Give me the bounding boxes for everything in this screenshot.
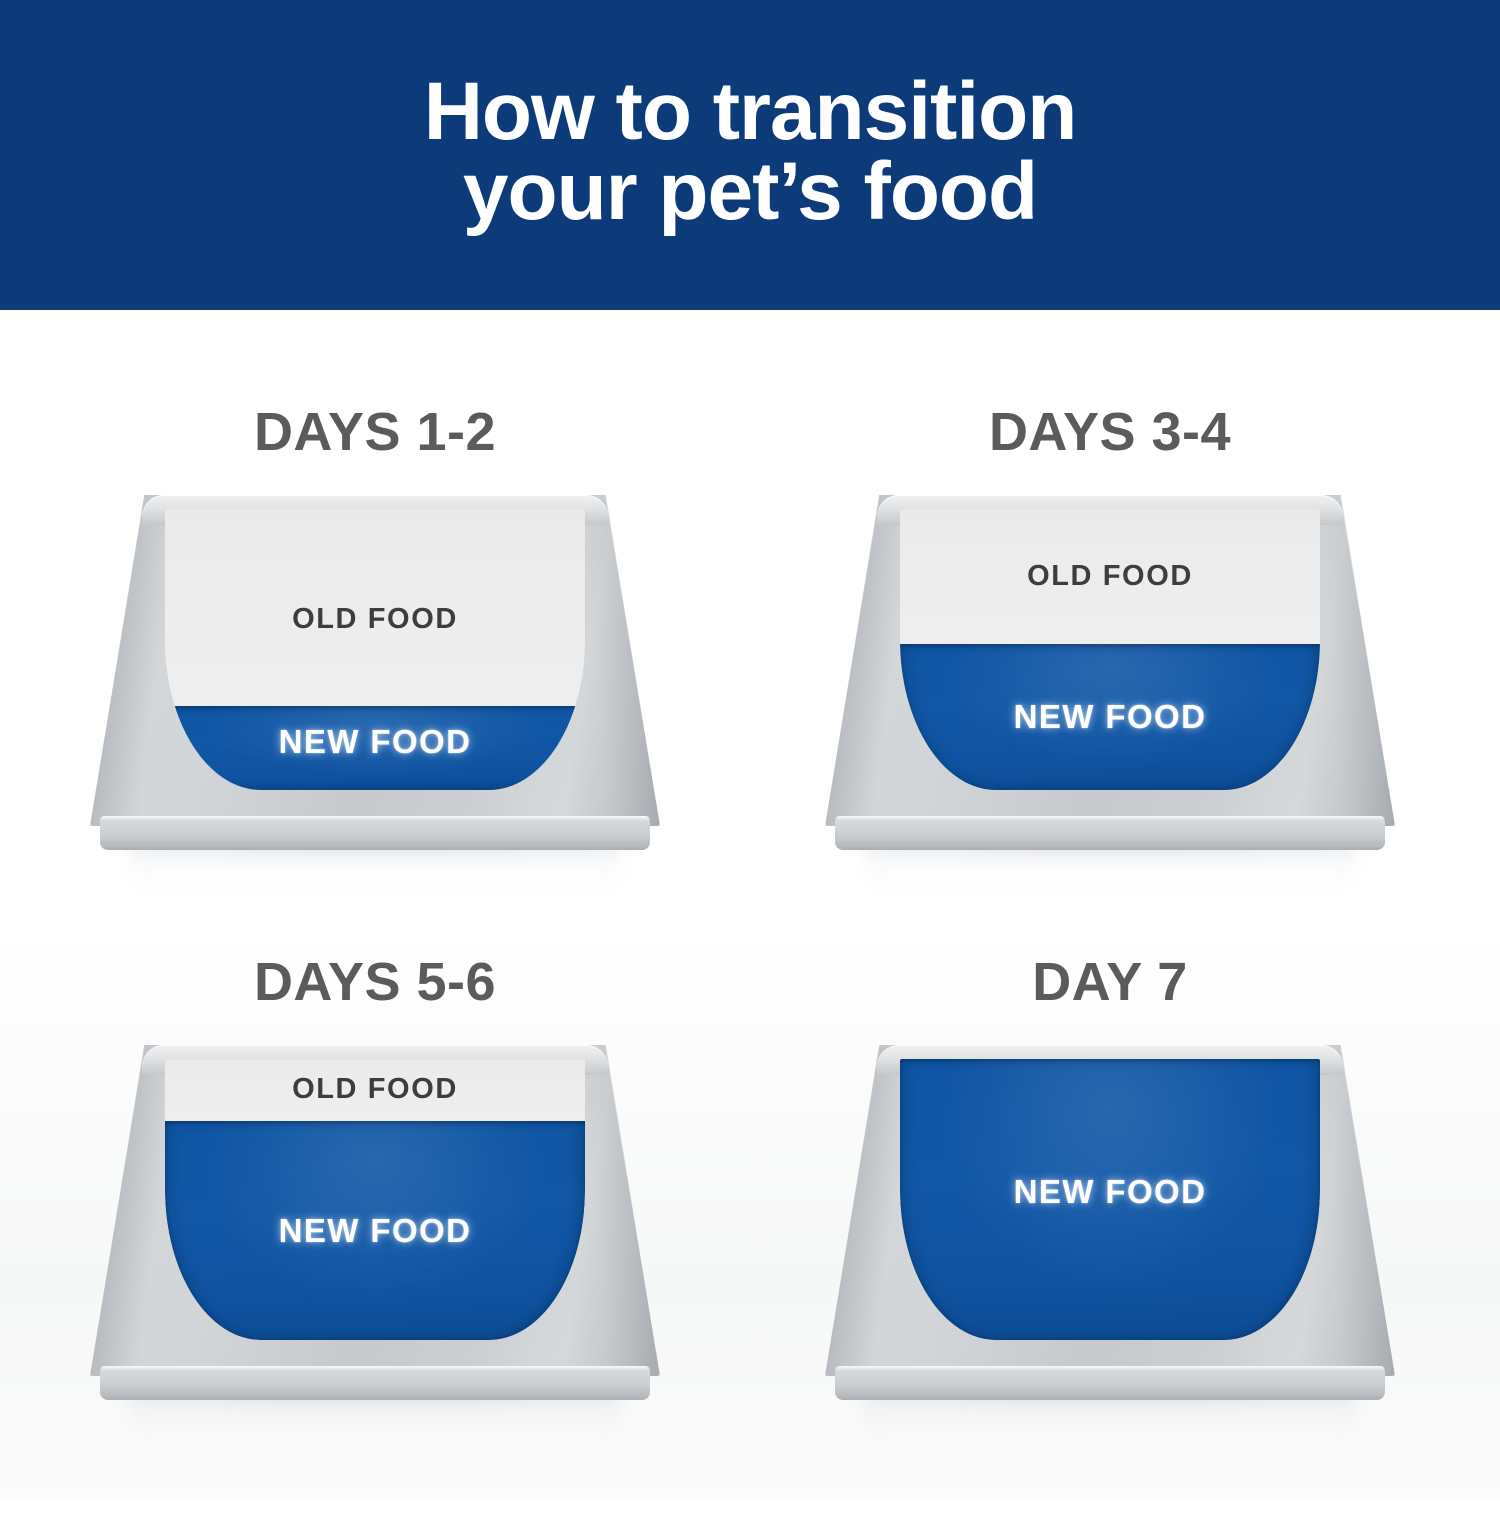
stage-card-days-3-4: DAYS 3-4 OLD FOOD NEW FOOD	[770, 405, 1450, 965]
stage-label-days-3-4: DAYS 3-4	[770, 405, 1450, 459]
bowl-base	[100, 816, 650, 850]
old-food-label: OLD FOOD	[165, 1075, 585, 1104]
bowl-food-well: OLD FOOD NEW FOOD	[165, 1059, 585, 1340]
food-bowl-days-3-4: OLD FOOD NEW FOOD	[825, 495, 1395, 850]
bowl-body-wrap: OLD FOOD NEW FOOD	[90, 495, 660, 826]
food-bowl-day-7: NEW FOOD	[825, 1045, 1395, 1400]
bowl-base	[835, 816, 1385, 850]
stage-card-day-7: DAY 7 NEW FOOD	[770, 955, 1450, 1515]
header-banner: How to transition your pet’s food	[0, 0, 1500, 310]
stage-label-day-7: DAY 7	[770, 955, 1450, 1009]
new-food-fill: NEW FOOD	[900, 1059, 1320, 1340]
stage-label-days-1-2: DAYS 1-2	[35, 405, 715, 459]
new-food-label: NEW FOOD	[165, 725, 585, 758]
bowl-base	[100, 1366, 650, 1400]
new-food-fill: NEW FOOD	[165, 1121, 585, 1340]
bowl-food-well: OLD FOOD NEW FOOD	[900, 509, 1320, 790]
food-bowl-days-1-2: OLD FOOD NEW FOOD	[90, 495, 660, 850]
new-food-fill: NEW FOOD	[900, 644, 1320, 790]
new-food-label: NEW FOOD	[900, 700, 1320, 733]
old-food-label: OLD FOOD	[165, 605, 585, 634]
old-food-fill: OLD FOOD	[165, 1059, 585, 1121]
new-food-label: NEW FOOD	[165, 1214, 585, 1247]
stage-label-days-5-6: DAYS 5-6	[35, 955, 715, 1009]
bowl-base	[835, 1366, 1385, 1400]
page-title: How to transition your pet’s food	[424, 72, 1077, 239]
bowl-food-well: NEW FOOD	[900, 1059, 1320, 1340]
bowl-food-well: OLD FOOD NEW FOOD	[165, 509, 585, 790]
bowl-body-wrap: OLD FOOD NEW FOOD	[90, 1045, 660, 1376]
old-food-fill: OLD FOOD	[900, 509, 1320, 644]
new-food-fill: NEW FOOD	[165, 706, 585, 790]
stage-card-days-1-2: DAYS 1-2 OLD FOOD NEW FOOD	[35, 405, 715, 965]
bowl-body-wrap: OLD FOOD NEW FOOD	[825, 495, 1395, 826]
food-bowl-days-5-6: OLD FOOD NEW FOOD	[90, 1045, 660, 1400]
bowl-body-wrap: NEW FOOD	[825, 1045, 1395, 1376]
stage-card-days-5-6: DAYS 5-6 OLD FOOD NEW FOOD	[35, 955, 715, 1515]
transition-stages-grid: DAYS 1-2 OLD FOOD NEW FOOD	[0, 310, 1500, 1500]
old-food-fill: OLD FOOD	[165, 509, 585, 706]
old-food-label: OLD FOOD	[900, 562, 1320, 591]
new-food-label: NEW FOOD	[900, 1175, 1320, 1208]
